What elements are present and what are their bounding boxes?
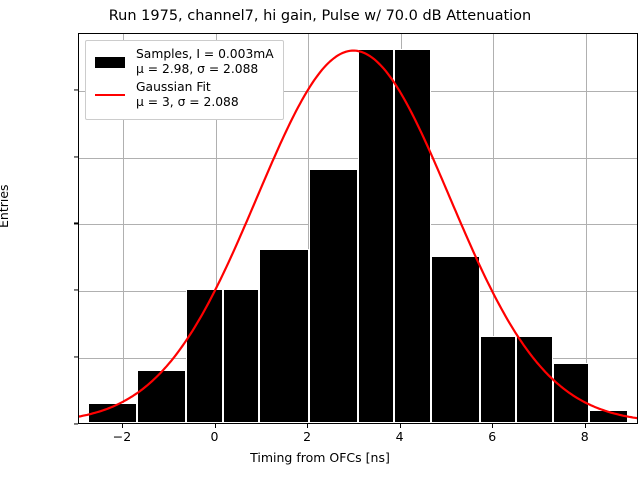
histogram-bar [480,336,517,423]
x-tick-label: 6 [462,429,522,444]
x-tick-mark [492,424,493,428]
figure-canvas: Run 1975, channel7, hi gain, Pulse w/ 70… [0,0,640,480]
x-tick-mark [122,424,123,428]
legend-label: Gaussian Fitμ = 3, σ = 2.088 [136,80,239,110]
histogram-bar [358,49,395,423]
legend-label-line1: Gaussian Fit [136,80,239,95]
x-tick-label: −2 [92,429,152,444]
histogram-bar [88,403,137,423]
histogram-bar [186,289,223,423]
histogram-bar [309,169,358,423]
legend-label-line2: μ = 3, σ = 2.088 [136,95,239,110]
x-tick-mark [585,424,586,428]
histogram-bar [516,336,553,423]
legend-label: Samples, I = 0.003mAμ = 2.98, σ = 2.088 [136,47,274,77]
red-line-icon [95,94,125,96]
histogram-bar [259,249,308,423]
black-square-icon [95,57,125,68]
histogram-bar [223,289,260,423]
chart-title: Run 1975, channel7, hi gain, Pulse w/ 70… [0,8,640,24]
legend-entry: Samples, I = 0.003mAμ = 2.98, σ = 2.088 [93,47,274,77]
legend-label-line1: Samples, I = 0.003mA [136,47,274,62]
histogram-bar [589,410,627,423]
x-tick-mark [400,424,401,428]
legend-patch-icon [93,49,127,75]
legend-entry: Gaussian Fitμ = 3, σ = 2.088 [93,80,274,110]
x-tick-label: 4 [370,429,430,444]
x-tick-mark [307,424,308,428]
x-tick-label: 2 [277,429,337,444]
legend-line-icon [93,82,127,108]
x-axis-label: Timing from OFCs [ns] [0,450,640,465]
histogram-bar [553,363,590,423]
histogram-bar [431,256,480,423]
x-tick-label: 8 [555,429,615,444]
histogram-bar [394,49,431,423]
y-axis-label: Entries [0,184,11,228]
legend: Samples, I = 0.003mAμ = 2.98, σ = 2.088G… [85,40,284,120]
legend-label-line2: μ = 2.98, σ = 2.088 [136,62,274,77]
x-tick-label: 0 [185,429,245,444]
histogram-bar [137,370,186,423]
x-tick-mark [215,424,216,428]
